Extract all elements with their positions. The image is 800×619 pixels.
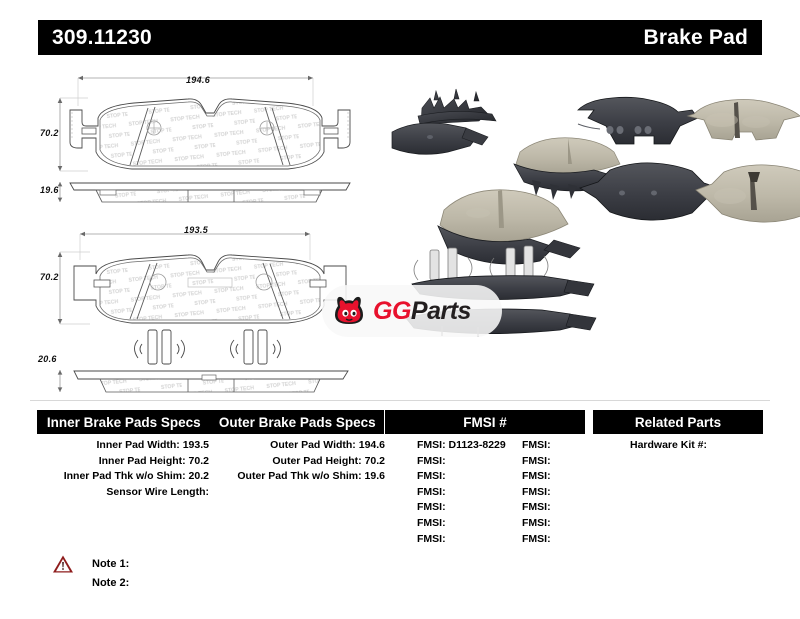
header-inner-brake-pads-specs: Inner Brake Pads Specs bbox=[37, 415, 211, 430]
inner-thickness-dimension: 20.6 bbox=[38, 354, 57, 364]
header-outer-brake-pads-specs: Outer Brake Pads Specs bbox=[211, 415, 385, 430]
outer-thickness-dimension: 19.6 bbox=[40, 185, 59, 195]
fmsi-line-b-6: FMSI: bbox=[522, 532, 617, 548]
inner-spec-line-3: Sensor Wire Length: bbox=[37, 485, 209, 501]
outer-width-dimension: 194.6 bbox=[186, 75, 210, 85]
notes-section: Note 1: Note 2: bbox=[52, 554, 129, 593]
part-number: 309.11230 bbox=[52, 26, 152, 50]
watermark-gg: GG bbox=[373, 297, 411, 325]
outer-spec-line-2: Outer Pad Thk w/o Shim: 19.6 bbox=[213, 469, 385, 485]
header-fmsi: FMSI # bbox=[385, 410, 585, 434]
inner-specs-column: Inner Pad Width: 193.5Inner Pad Height: … bbox=[37, 438, 209, 500]
outer-specs-column: Outer Pad Width: 194.6Outer Pad Height: … bbox=[213, 438, 385, 500]
outer-spec-line-1: Outer Pad Height: 70.2 bbox=[213, 454, 385, 470]
related-part-line-0: Hardware Kit #: bbox=[630, 438, 770, 454]
inner-spec-line-2: Inner Pad Thk w/o Shim: 20.2 bbox=[37, 469, 209, 485]
fmsi-line-a-4: FMSI: bbox=[417, 500, 512, 516]
spec-table-header-row: Inner Brake Pads Specs Outer Brake Pads … bbox=[30, 410, 770, 434]
inner-spec-line-0: Inner Pad Width: 193.5 bbox=[37, 438, 209, 454]
header-related-parts: Related Parts bbox=[593, 410, 763, 434]
fmsi-line-a-1: FMSI: bbox=[417, 454, 512, 470]
fmsi-line-a-0: FMSI: D1123-8229 bbox=[417, 438, 512, 454]
outer-height-dimension: 70.2 bbox=[40, 128, 59, 138]
fmsi-column-a: FMSI: D1123-8229FMSI:FMSI:FMSI:FMSI:FMSI… bbox=[417, 438, 512, 547]
product-header-bar: 309.11230 Brake Pad bbox=[38, 20, 762, 55]
fmsi-line-b-4: FMSI: bbox=[522, 500, 617, 516]
outer-spec-line-0: Outer Pad Width: 194.6 bbox=[213, 438, 385, 454]
fmsi-line-a-2: FMSI: bbox=[417, 469, 512, 485]
watermark-parts: Parts bbox=[411, 297, 471, 325]
fmsi-line-b-3: FMSI: bbox=[522, 485, 617, 501]
note-1: Note 1: bbox=[92, 555, 129, 574]
note-2: Note 2: bbox=[92, 574, 129, 593]
fmsi-line-a-6: FMSI: bbox=[417, 532, 512, 548]
fmsi-line-a-5: FMSI: bbox=[417, 516, 512, 532]
ggparts-logo-icon bbox=[332, 294, 366, 328]
related-parts-column: Hardware Kit #: bbox=[630, 438, 770, 454]
warning-triangle-icon bbox=[52, 554, 74, 574]
fmsi-line-b-1: FMSI: bbox=[522, 454, 617, 470]
inner-height-dimension: 70.2 bbox=[40, 272, 59, 282]
fmsi-line-a-3: FMSI: bbox=[417, 485, 512, 501]
fmsi-line-b-0: FMSI: bbox=[522, 438, 617, 454]
fmsi-column-b: FMSI:FMSI:FMSI:FMSI:FMSI:FMSI:FMSI: bbox=[522, 438, 617, 547]
outer-spec-line-3 bbox=[213, 485, 385, 501]
inner-spec-line-1: Inner Pad Height: 70.2 bbox=[37, 454, 209, 470]
fmsi-line-b-2: FMSI: bbox=[522, 469, 617, 485]
header-cell-pad-specs: Inner Brake Pads Specs Outer Brake Pads … bbox=[37, 410, 384, 434]
note-lines: Note 1: Note 2: bbox=[92, 554, 129, 593]
technical-drawings: STOP TECH STOP TECH bbox=[38, 66, 378, 396]
watermark-brand: GGParts bbox=[373, 297, 471, 326]
inner-width-dimension: 193.5 bbox=[184, 225, 208, 235]
table-top-divider bbox=[30, 400, 770, 401]
fmsi-line-b-5: FMSI: bbox=[522, 516, 617, 532]
ggparts-watermark: GGParts bbox=[322, 285, 502, 337]
product-type: Brake Pad bbox=[643, 26, 748, 50]
outer-pad-drawing: STOP TECH STOP TECH bbox=[38, 66, 378, 216]
